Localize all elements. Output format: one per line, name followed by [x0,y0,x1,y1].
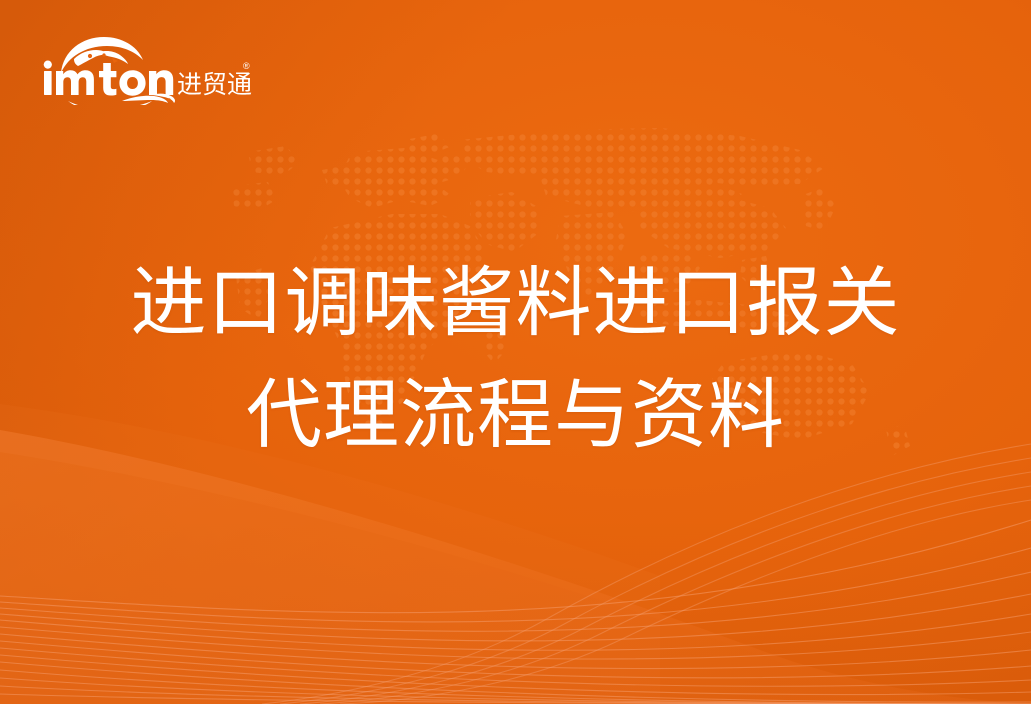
swoosh-icon [68,94,175,105]
registered-trademark-icon: ® [243,61,250,71]
headline-line-1: 进口调味酱料进口报关 [0,248,1031,360]
brand-logo[interactable]: 进贸通 ® [38,31,253,105]
headline-line-2: 代理流程与资料 [0,360,1031,472]
headline-block: 进口调味酱料进口报关 代理流程与资料 [0,248,1031,472]
promotional-banner: 进贸通 ® 进口调味酱料进口报关 代理流程与资料 [0,0,1031,704]
logo-chinese-text: 进贸通 [177,71,252,99]
globe-arc-icon [61,37,143,73]
